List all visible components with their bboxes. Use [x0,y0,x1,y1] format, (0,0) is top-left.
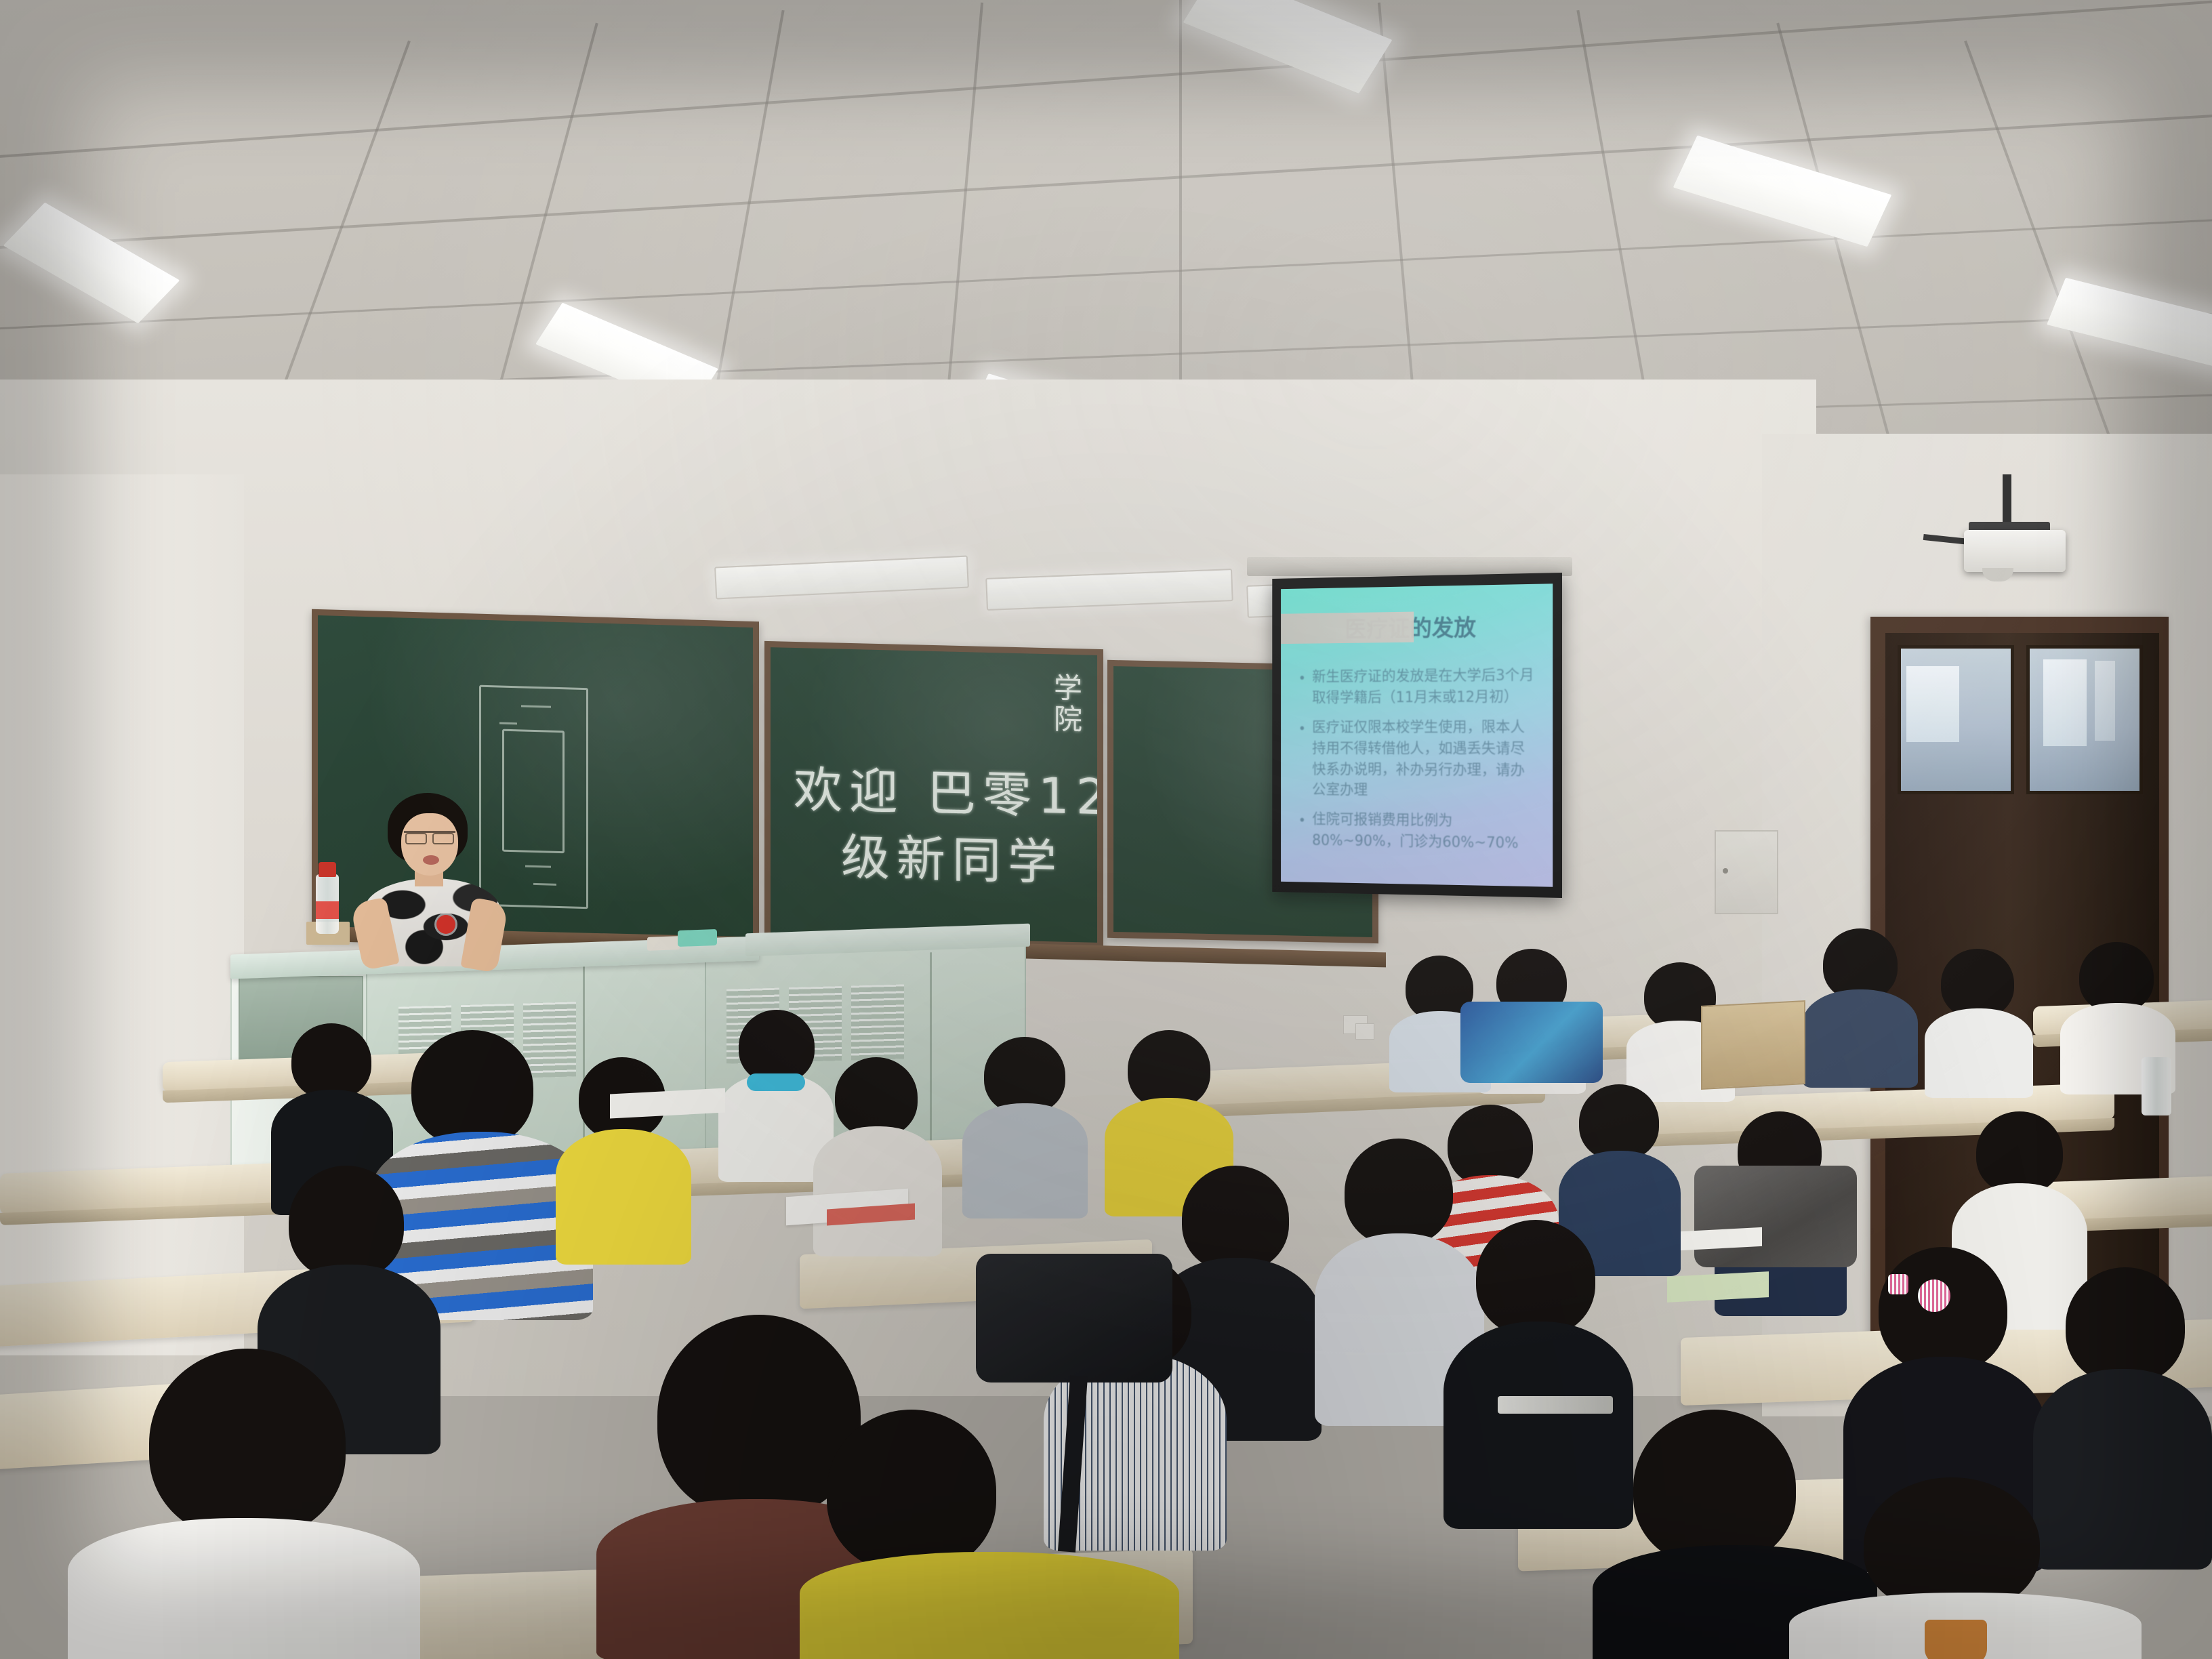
slide-bullet: 医疗证仅限本校学生使用，限本人持用不得转借他人，如遇丢失请尽快系办说明，补办另行… [1312,717,1538,803]
student [1803,928,1918,1084]
presenter-mouth [423,855,439,865]
blackboard-welcome-line1: 欢迎 巴零12 [794,750,1097,829]
paper-sheet [1667,1271,1769,1303]
glasses-icon [404,831,455,842]
backpack [976,1254,1172,1382]
blackboard-panel-center: 欢迎 巴零12 级新同学 学 院 [764,641,1103,949]
projection-screen[interactable]: 医疗证的发放 新生医疗证的发放是在大学后3个月取得学籍后（11月末或12月初） … [1272,573,1562,898]
shirt-graphic-fox-icon [1925,1620,1987,1659]
blackboard-surface: 欢迎 巴零12 级新同学 学 院 [771,647,1097,943]
door-glass-panel-right [2026,645,2143,794]
cardboard-box [1701,1000,1805,1090]
ceiling-projector [1964,530,2066,572]
chalk-mark [499,722,517,725]
student [556,1057,691,1261]
blackboard-welcome-line2: 级新同学 [841,817,1063,894]
ceiling-light-fixture [1673,136,1892,247]
ceiling-light-fixture [3,203,180,324]
electrical-access-panel [1715,830,1778,914]
presenter-face [401,813,458,876]
hair-clip-icon [1888,1274,1908,1294]
slide-bullet: 新生医疗证的发放是在大学后3个月取得学籍后（11月末或12月初） [1312,665,1538,709]
blackboard-corner-text-1: 学 [1054,665,1082,707]
student [1925,949,2033,1094]
chalk-diagram-inner [502,729,565,854]
door-glass-panel-left [1898,645,2014,794]
blackboard-corner-text-2: 院 [1054,696,1082,738]
chalk-mark [525,865,551,868]
chalk-box [647,936,680,951]
handbag [1694,1166,1857,1267]
chalk-eraser [678,929,717,947]
ceiling-light-fixture [1183,0,1392,94]
student [962,1037,1088,1213]
water-bottle-desk [2142,1057,2171,1115]
slide-bullet: 住院可报销费用比例为80%~90%，门诊为60%~70% [1312,810,1538,855]
presentation-slide: 医疗证的发放 新生医疗证的发放是在大学后3个月取得学籍后（11月末或12月初） … [1281,583,1553,886]
student [800,1410,1179,1659]
slide-bullet-list: 新生医疗证的发放是在大学后3个月取得学籍后（11月末或12月初） 医疗证仅限本校… [1300,665,1538,863]
cabinet-vent [851,984,904,1060]
chalk-mark [533,883,556,886]
ceiling-light-fixture [2047,278,2212,369]
presenter [352,793,508,969]
student [1789,1477,2142,1659]
hair-clip-icon [1918,1279,1950,1312]
student [68,1349,420,1659]
slide-glare-mask [1281,612,1414,644]
panel-knob [1723,868,1728,874]
wall-socket [1355,1023,1374,1040]
backpack [1460,1002,1603,1083]
flower-badge-icon [436,915,455,934]
chalk-mark [521,705,551,708]
projector-mount-pole [2003,474,2011,527]
classroom-photo: 欢迎 巴零12 级新同学 学 院 医疗证的发放 新生医疗证的发放是在大学后3个月… [0,0,2212,1659]
bottle-cap [319,862,336,877]
bottle-label [316,901,339,919]
